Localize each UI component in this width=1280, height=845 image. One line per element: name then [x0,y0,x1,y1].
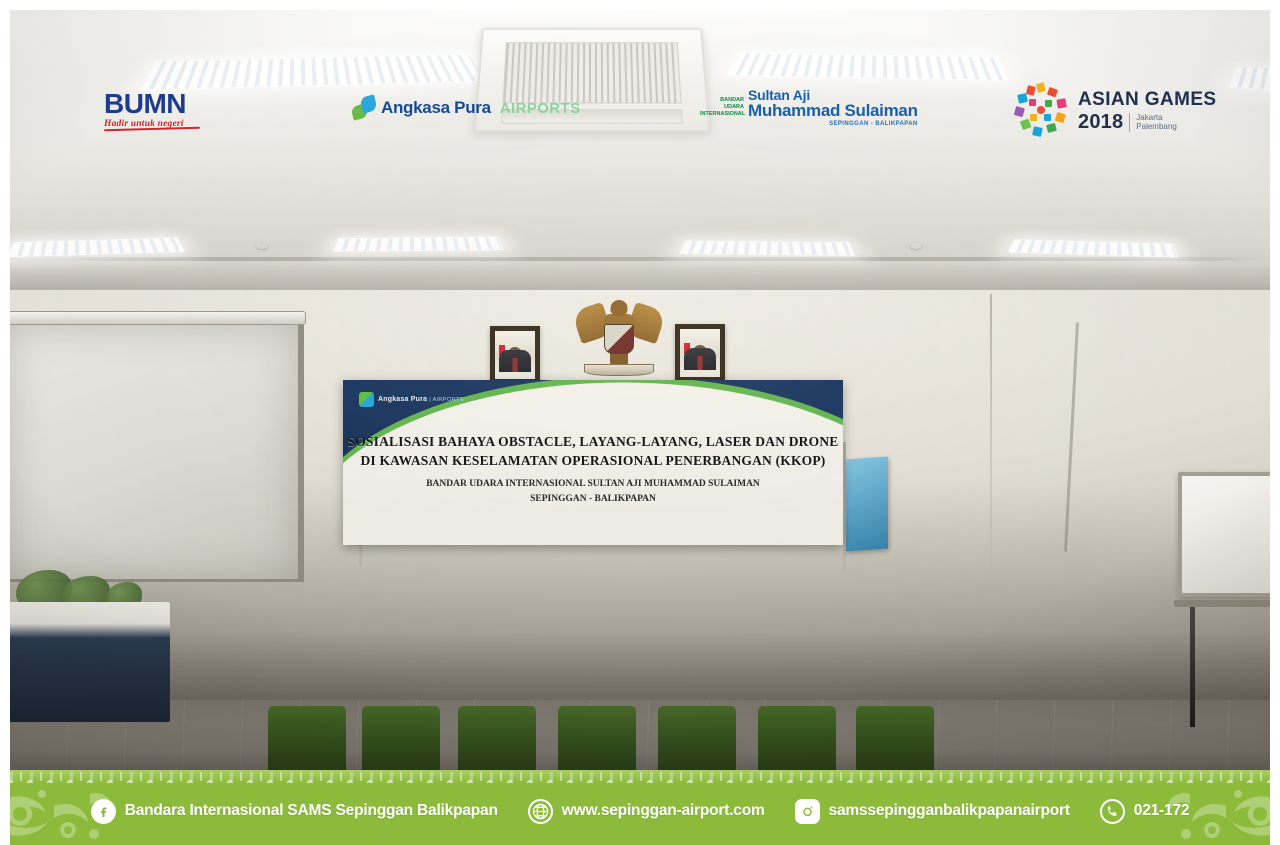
sams-line-3: SEPINGGAN - BALIKPAPAN [748,121,918,127]
angkasa-pura-wordmark: Angkasa Pura [381,98,491,118]
banner-subtitle-line-2: SEPINGGAN - BALIKPAPAN [343,493,843,507]
smoke-detector-icon [910,242,922,249]
asian-games-2018-logo: ASIAN GAMES 2018 Jakarta Palembang [1012,82,1216,140]
garuda-pancasila-emblem [576,296,662,378]
ceiling-light-panel [679,241,855,256]
contact-list: Bandara Internasional SAMS Sepinggan Bal… [0,786,1280,836]
chair [758,706,836,780]
card-frame-right [1270,0,1280,845]
globe-icon [528,799,553,824]
footer-lace-border [0,770,1280,783]
portrait-frame-president [490,326,540,384]
banner-logo-suffix: | AIRPORTS [429,397,464,403]
sams-line-1: Sultan Aji [748,88,918,102]
angkasa-pura-swoosh-icon [352,96,376,120]
card-frame-top [0,0,1280,10]
angkasa-pura-airports-label: AIRPORTS [500,100,581,117]
asian-games-emblem-icon [1012,82,1070,140]
chair [268,706,346,780]
contact-website-label: www.sepinggan-airport.com [562,802,765,820]
sams-line-2: Muhammad Sulaiman [748,102,918,119]
event-photo-card: Angkasa Pura | AIRPORTS SOSIALISASI BAHA… [0,0,1280,845]
chair [558,706,636,780]
screen-roller [10,311,306,325]
garuda-shield [604,324,634,354]
sams-airport-logo: BANDAR UDARA INTERNASIONAL Sultan Aji Mu… [700,88,918,127]
contact-instagram[interactable]: samssepingganbalikpapanairport [795,799,1070,824]
chair [362,706,440,780]
contact-facebook-label: Bandara Internasional SAMS Sepinggan Bal… [125,802,498,820]
contact-phone[interactable]: 021-172 [1100,799,1189,824]
contact-instagram-label: samssepingganbalikpapanairport [829,802,1070,820]
chair [856,706,934,780]
sponsor-logo-bar: BUMN Hadir untuk negeri Angkasa Pura AIR… [0,38,1280,110]
banner-subtitle-line-1: BANDAR UDARA INTERNASIONAL SULTAN AJI MU… [343,478,843,492]
contact-footer: Bandara Internasional SAMS Sepinggan Bal… [0,770,1280,845]
asian-games-year: 2018 [1078,112,1123,132]
garuda-ribbon [584,364,654,376]
ceiling-light-panel [333,237,504,252]
banner-text-block: SOSIALISASI BAHAYA OBSTACLE, LAYANG-LAYA… [343,432,843,507]
banner-angkasa-pura-logo: Angkasa Pura | AIRPORTS [359,392,464,407]
portrait-tie [513,358,518,372]
asian-games-host-2: Palembang [1136,122,1176,131]
asian-games-title: ASIAN GAMES [1078,89,1216,110]
portrait-frame-vice-president [675,324,725,382]
asian-games-host-1: Jakarta [1136,113,1162,122]
facebook-icon [91,799,116,824]
chair [458,706,536,780]
bumn-logo: BUMN Hadir untuk negeri [104,90,200,130]
sams-prefix: BANDAR UDARA INTERNASIONAL [700,97,744,118]
contact-website[interactable]: www.sepinggan-airport.com [528,799,765,824]
card-frame-left [0,0,10,845]
phone-icon [1100,799,1125,824]
angkasa-pura-swoosh-icon [359,392,374,407]
portrait-tie [698,356,703,370]
banner-title-line-2: DI KAWASAN KESELAMATAN OPERASIONAL PENER… [343,451,843,470]
garuda-head [611,300,628,316]
chair [658,706,736,780]
contact-facebook[interactable]: Bandara Internasional SAMS Sepinggan Bal… [91,799,498,824]
bumn-wordmark: BUMN [104,90,186,118]
angkasa-pura-logo: Angkasa Pura AIRPORTS [352,96,581,120]
instagram-icon [795,799,820,824]
banner-logo-brand: Angkasa Pura [378,396,427,403]
contact-phone-label: 021-172 [1134,802,1189,820]
ceiling-soffit [10,257,1270,261]
banner-title-line-1: SOSIALISASI BAHAYA OBSTACLE, LAYANG-LAYA… [343,432,843,451]
smoke-detector-icon [256,242,268,249]
